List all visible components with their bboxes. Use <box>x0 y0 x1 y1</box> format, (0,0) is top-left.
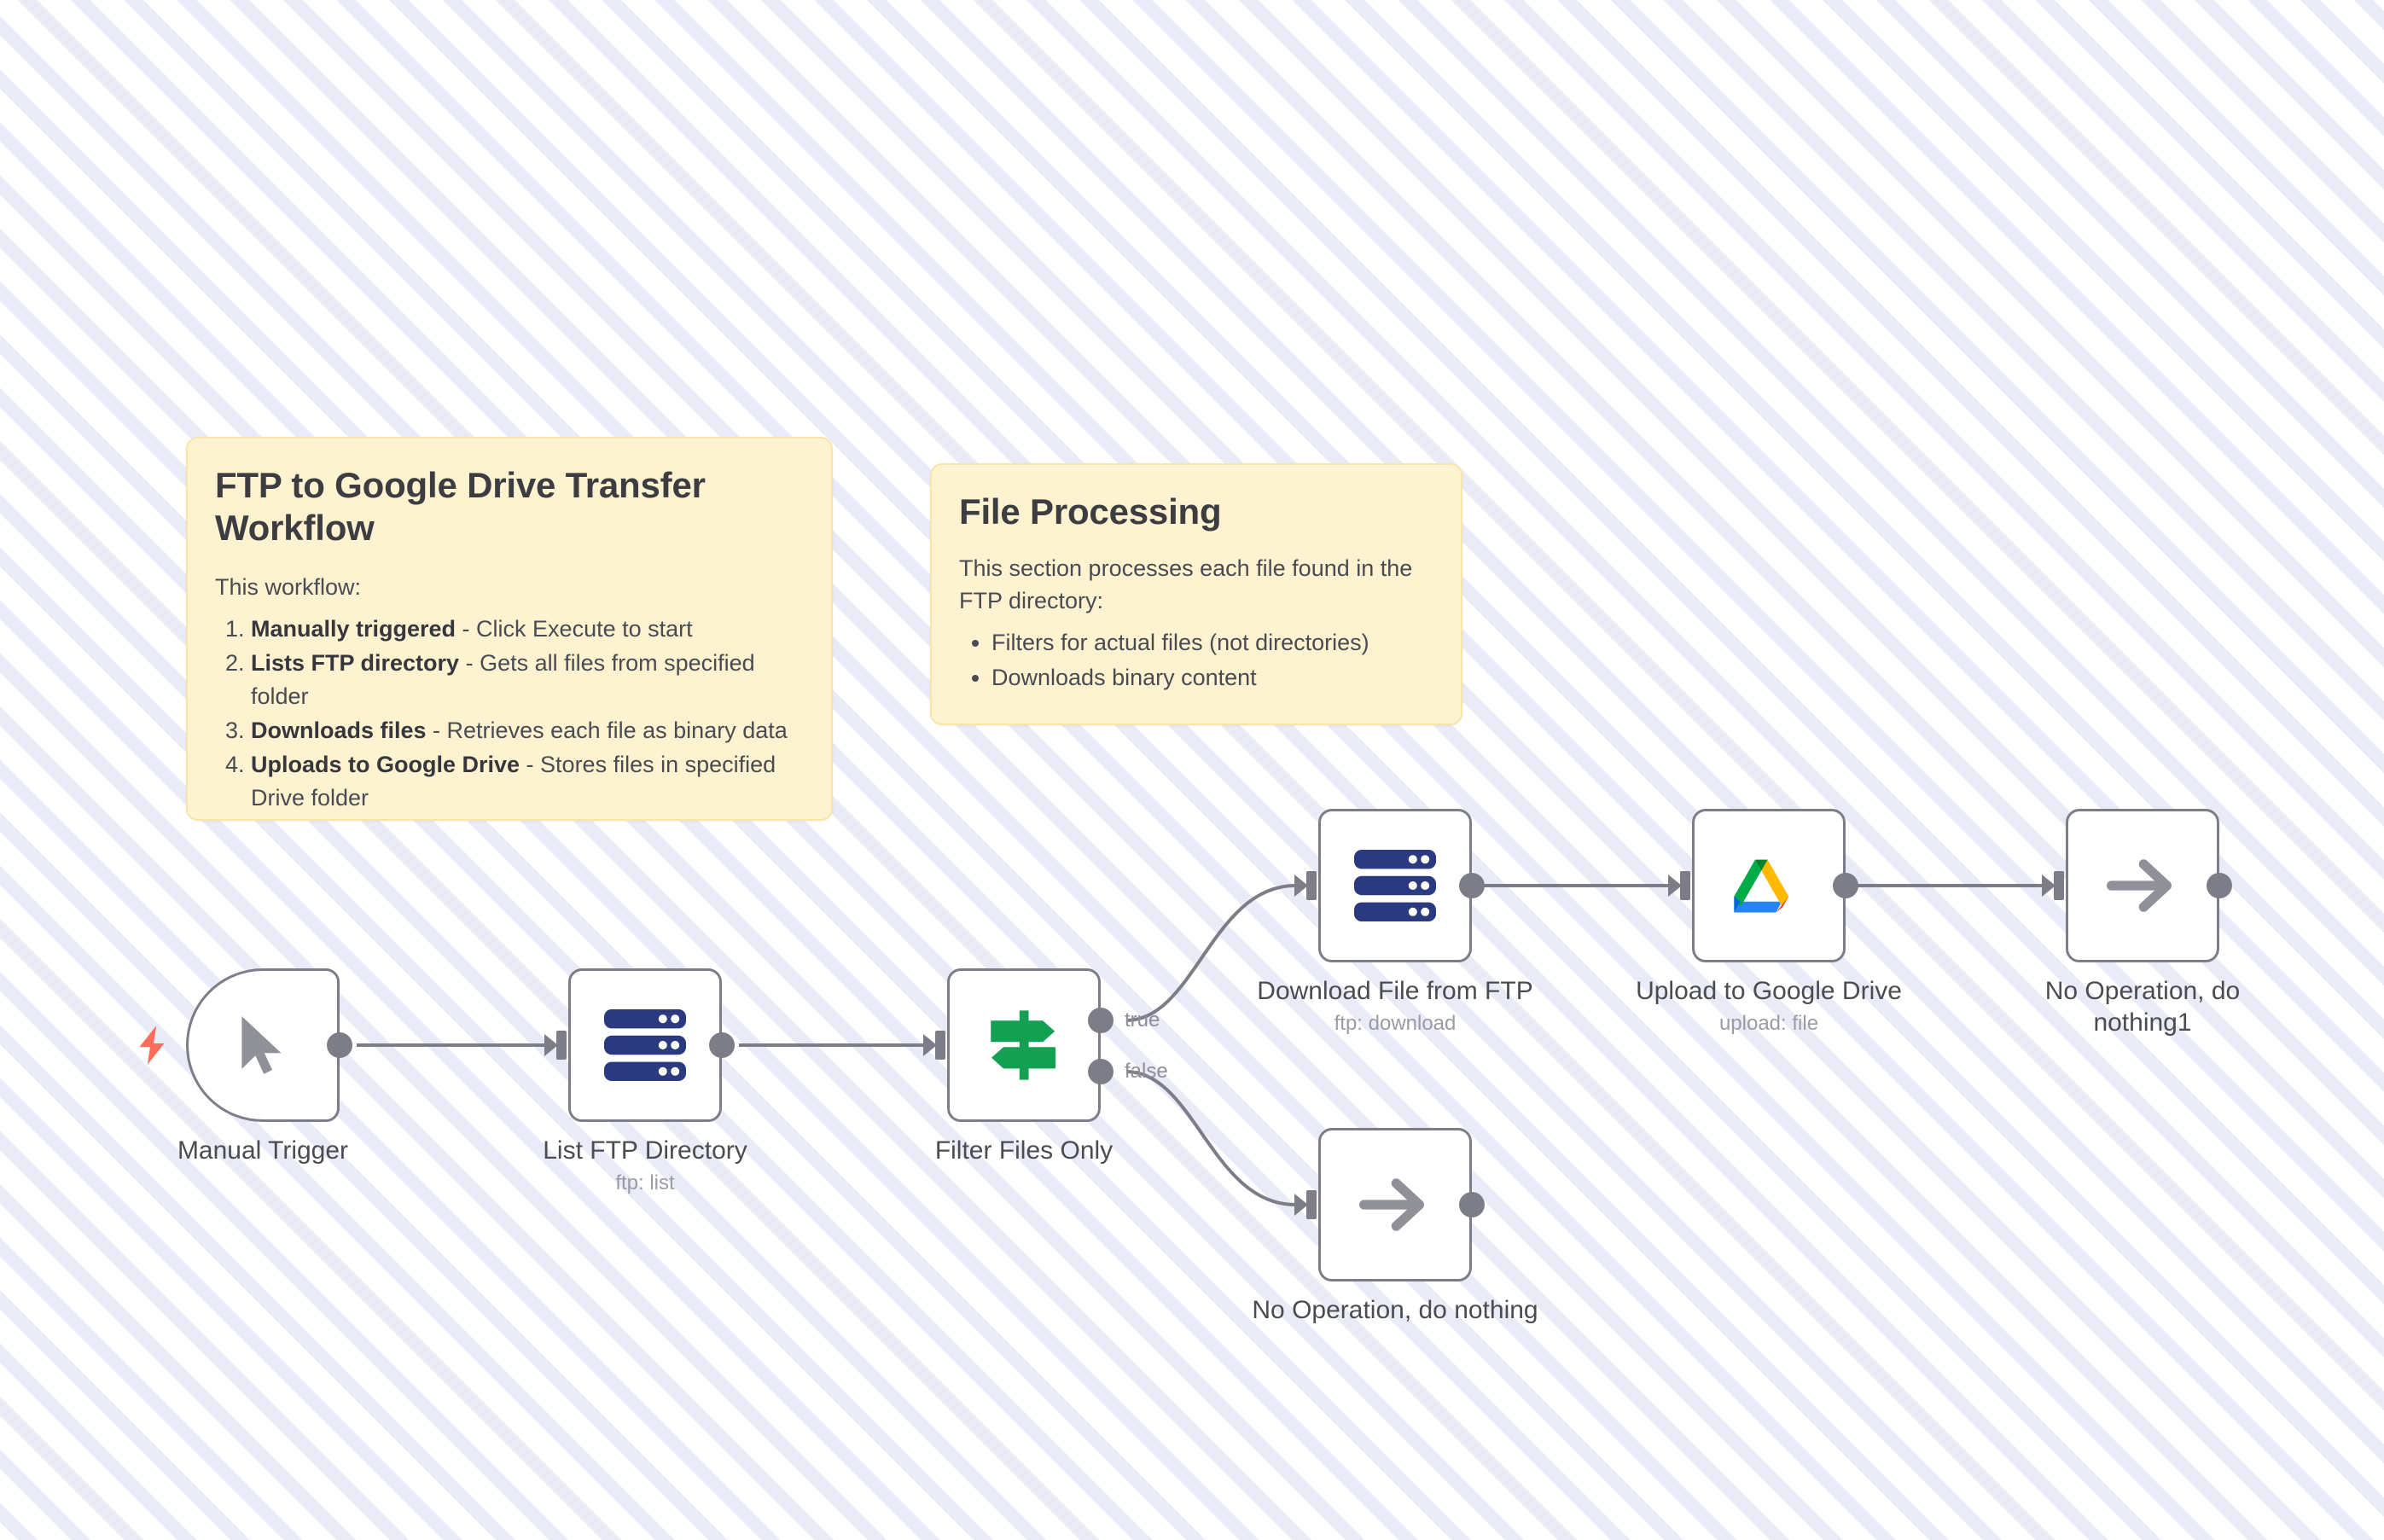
output-label-true: true <box>1125 1008 1160 1032</box>
sticky-note-list: Manually triggered - Click Execute to st… <box>251 613 804 814</box>
sticky-note-file-processing[interactable]: File Processing This section processes e… <box>930 463 1462 725</box>
node-body[interactable] <box>947 968 1101 1122</box>
arrow-right-icon <box>1358 1172 1432 1237</box>
node-body[interactable] <box>1318 1128 1472 1281</box>
node-label: List FTP Directory <box>543 1136 747 1167</box>
input-port[interactable] <box>1294 871 1317 900</box>
node-label: Upload to Google Drive <box>1636 976 1902 1008</box>
node-label: No Operation, do nothing1 <box>2032 976 2253 1038</box>
list-item: Filters for actual files (not directorie… <box>991 626 1433 659</box>
output-port-false[interactable] <box>1088 1059 1114 1084</box>
node-body[interactable] <box>186 968 340 1122</box>
output-port-true[interactable] <box>1088 1008 1114 1033</box>
list-item: Lists FTP directory - Gets all files fro… <box>251 647 804 712</box>
ftp-server-icon <box>601 1006 689 1084</box>
arrow-right-icon <box>2106 853 2179 918</box>
input-port[interactable] <box>544 1031 567 1060</box>
output-port[interactable] <box>1459 1192 1485 1217</box>
node-sublabel: upload: file <box>1719 1012 1818 1036</box>
output-port[interactable] <box>2207 873 2232 898</box>
node-body[interactable] <box>1692 809 1846 962</box>
node-label: Download File from FTP <box>1257 976 1532 1008</box>
list-item: Downloads files - Retrieves each file as… <box>251 714 804 747</box>
cursor-icon <box>231 1011 294 1079</box>
node-body[interactable] <box>2066 809 2219 962</box>
node-label: Manual Trigger <box>177 1136 348 1167</box>
node-sublabel: ftp: list <box>615 1171 674 1195</box>
node-body[interactable] <box>568 968 722 1122</box>
input-port[interactable] <box>1668 871 1690 900</box>
node-label: No Operation, do nothing <box>1252 1295 1538 1327</box>
list-item: Uploads to Google Drive - Stores files i… <box>251 748 804 814</box>
node-sublabel: ftp: download <box>1334 1012 1457 1036</box>
input-port[interactable] <box>923 1031 945 1060</box>
sticky-note-intro: This section processes each file found i… <box>959 552 1433 619</box>
ftp-server-icon <box>1351 846 1439 925</box>
sticky-note-intro: This workflow: <box>215 571 804 604</box>
output-port[interactable] <box>1833 873 1858 898</box>
input-port[interactable] <box>1294 1190 1317 1219</box>
output-port[interactable] <box>1459 873 1485 898</box>
if-signpost-icon <box>983 1004 1065 1086</box>
input-port[interactable] <box>2042 871 2064 900</box>
workflow-canvas[interactable]: FTP to Google Drive Transfer Workflow Th… <box>0 0 2384 1540</box>
node-body[interactable] <box>1318 809 1472 962</box>
sticky-note-title: File Processing <box>959 491 1433 533</box>
sticky-note-list: Filters for actual files (not directorie… <box>991 626 1433 694</box>
node-label: Filter Files Only <box>935 1136 1113 1167</box>
edge-filter-false-to-noop <box>1126 1072 1295 1205</box>
list-item: Downloads binary content <box>991 661 1433 694</box>
google-drive-icon <box>1728 849 1810 922</box>
output-label-false: false <box>1125 1060 1168 1084</box>
sticky-note-title: FTP to Google Drive Transfer Workflow <box>215 464 804 549</box>
lightning-bolt-icon <box>133 1024 171 1066</box>
output-port[interactable] <box>327 1032 352 1058</box>
list-item: Manually triggered - Click Execute to st… <box>251 613 804 645</box>
sticky-note-workflow-overview[interactable]: FTP to Google Drive Transfer Workflow Th… <box>186 437 833 821</box>
output-port[interactable] <box>709 1032 735 1058</box>
